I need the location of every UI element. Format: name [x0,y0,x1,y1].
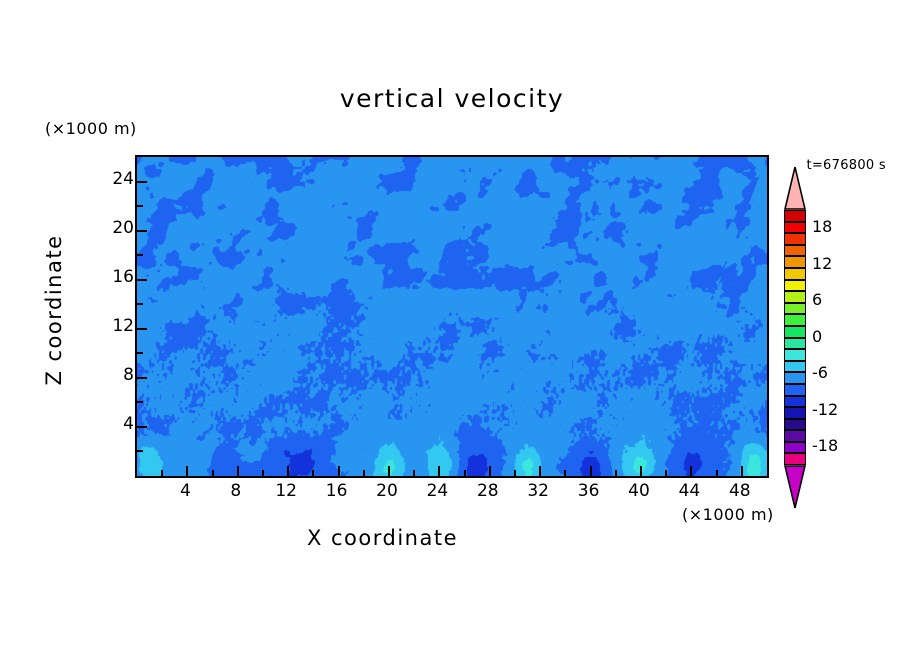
x-axis-tick [564,470,566,476]
x-axis-tick-label: 48 [710,481,770,501]
colorbar-tick-label: 12 [812,254,832,273]
x-axis-tick [363,470,365,476]
y-axis-unit-label: (×1000 m) [45,119,137,138]
y-axis-tick-label: 20 [74,218,134,238]
colorbar-tick-label: -6 [812,363,828,382]
y-axis-tick [137,279,147,281]
timestamp-annotation: t=676800 s [806,158,886,173]
y-axis-tick [137,328,147,330]
colorbar-band [784,442,806,454]
x-axis-tick [590,466,592,476]
colorbar-band [784,407,806,419]
x-axis-tick [665,470,667,476]
x-axis-tick [212,470,214,476]
colorbar-band [784,210,806,222]
colorbar-band [784,419,806,431]
y-axis-tick [137,377,147,379]
y-axis-tick-label: 16 [74,267,134,287]
colorbar-tick-label: 18 [812,217,832,236]
colorbar-tick-label: 6 [812,290,822,309]
y-axis-tick [137,426,147,428]
colorbar-tick-label: 0 [812,327,822,346]
colorbar-band [784,396,806,408]
y-axis-tick [137,352,143,354]
x-axis-tick [161,470,163,476]
x-axis-tick [539,466,541,476]
colorbar-band [784,349,806,361]
x-axis-tick [690,466,692,476]
x-axis-tick [640,466,642,476]
colorbar-band [784,291,806,303]
colorbar-band [784,268,806,280]
x-axis-unit-label: (×1000 m) [682,505,774,524]
x-axis-tick [338,466,340,476]
colorbar-band [784,326,806,338]
x-axis-title: X coordinate [0,526,765,550]
y-axis-tick-label: 4 [74,414,134,434]
x-axis-tick [388,466,390,476]
y-axis-tick [137,205,143,207]
colorbar-band [784,245,806,257]
colorbar-band [784,361,806,373]
y-axis-tick [137,401,143,403]
colorbar-band [784,372,806,384]
y-axis-tick-label: 24 [74,169,134,189]
x-axis-tick [262,470,264,476]
colorbar-band [784,256,806,268]
colorbar-tick-label: -18 [812,436,838,455]
y-axis-title: Z coordinate [42,220,66,400]
colorbar-band [784,453,806,465]
y-axis-tick [137,450,143,452]
x-axis-tick [312,470,314,476]
x-axis-tick [464,470,466,476]
contour-plot-area [135,155,769,478]
y-axis-tick [137,181,147,183]
x-axis-tick [489,466,491,476]
colorbar-band [784,314,806,326]
y-axis-tick [137,230,147,232]
x-axis-tick [413,470,415,476]
colorbar-band [784,280,806,292]
colorbar-band [784,430,806,442]
chart-title: vertical velocity [0,84,904,113]
y-axis-tick [137,303,143,305]
colorbar-band [784,222,806,234]
contour-field-canvas [137,157,767,476]
colorbar [784,210,806,465]
colorbar-tick-label: -12 [812,400,838,419]
x-axis-tick [287,466,289,476]
x-axis-tick [186,466,188,476]
x-axis-tick [438,466,440,476]
colorbar-band [784,233,806,245]
colorbar-band [784,338,806,350]
colorbar-band [784,303,806,315]
y-axis-tick-label: 12 [74,316,134,336]
y-axis-tick-label: 8 [74,365,134,385]
chart-title-text: vertical velocity [340,84,564,113]
x-axis-tick [716,470,718,476]
y-axis-tick [137,254,143,256]
colorbar-top-cap [784,166,806,210]
x-axis-tick [615,470,617,476]
x-axis-tick [237,466,239,476]
colorbar-band [784,384,806,396]
x-axis-tick [741,466,743,476]
x-axis-tick [514,470,516,476]
colorbar-bottom-cap [784,465,806,509]
